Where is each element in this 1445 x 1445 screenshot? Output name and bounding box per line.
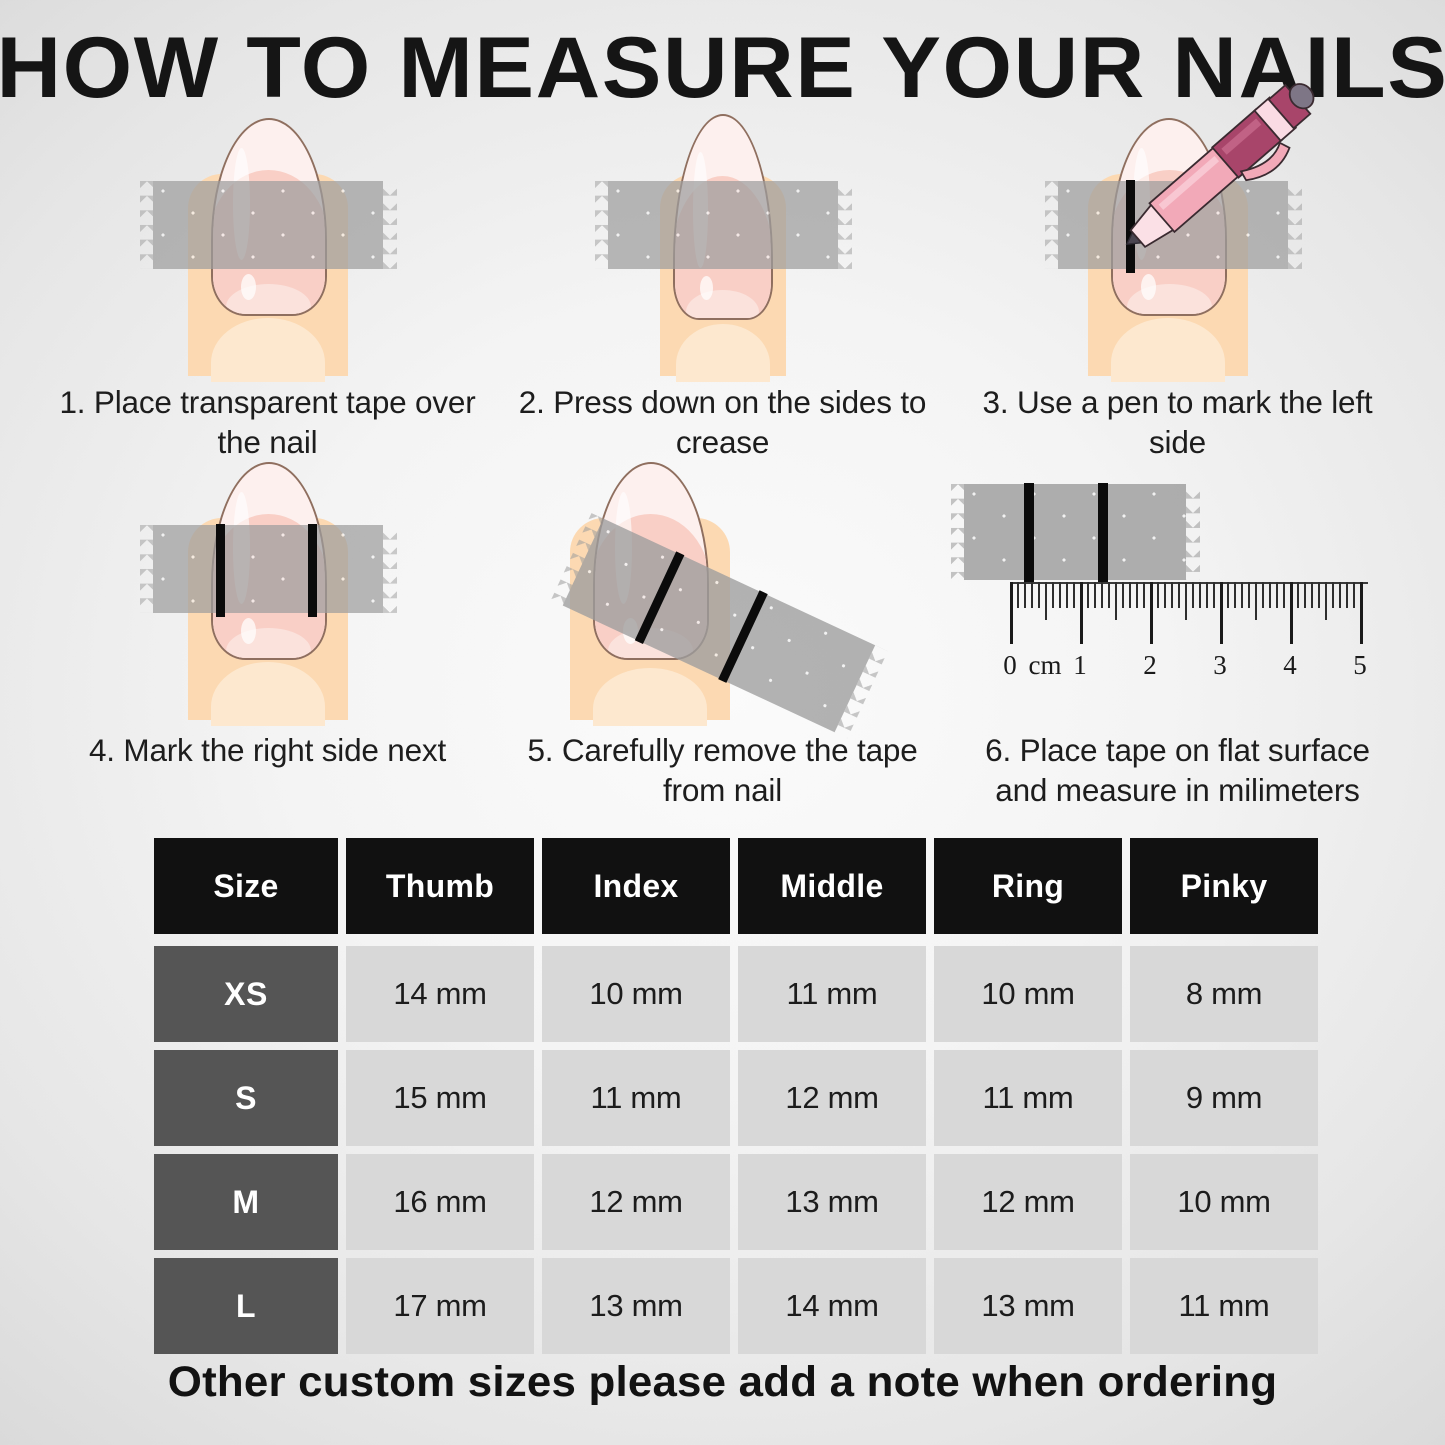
ruler-unit-label: cm bbox=[1029, 650, 1062, 681]
table-row: XS14 mm10 mm11 mm10 mm8 mm bbox=[154, 946, 1324, 1042]
pen-mark-right bbox=[1098, 483, 1108, 583]
ruler-label-1: 1 bbox=[1073, 650, 1087, 681]
ruler-tick-minor bbox=[1332, 582, 1334, 608]
ruler-tick-major bbox=[1150, 582, 1153, 644]
ruler-tick-minor bbox=[1241, 582, 1243, 608]
cell-m-index: 12 mm bbox=[542, 1154, 730, 1250]
steps-grid: 1. Place transparent tape over the nail bbox=[40, 118, 1405, 810]
ruler-tick-minor bbox=[1318, 582, 1320, 608]
pen-icon bbox=[1110, 78, 1360, 278]
ruler-tick-minor bbox=[1143, 582, 1145, 608]
ruler-tick-half bbox=[1045, 582, 1047, 620]
cell-xs-middle: 11 mm bbox=[738, 946, 926, 1042]
size-label-m: M bbox=[154, 1154, 338, 1250]
table-row: S15 mm11 mm12 mm11 mm9 mm bbox=[154, 1050, 1324, 1146]
ruler-label-3: 3 bbox=[1213, 650, 1227, 681]
ruler-tick-major bbox=[1220, 582, 1223, 644]
step-2-illustration bbox=[495, 118, 950, 376]
size-chart-table: SizeThumbIndexMiddleRingPinky XS14 mm10 … bbox=[154, 838, 1324, 1362]
size-label-s: S bbox=[154, 1050, 338, 1146]
table-row: L17 mm13 mm14 mm13 mm11 mm bbox=[154, 1258, 1324, 1354]
ruler-tick-minor bbox=[1031, 582, 1033, 608]
cell-m-ring: 12 mm bbox=[934, 1154, 1122, 1250]
pen-mark-right bbox=[308, 524, 317, 617]
size-label-l: L bbox=[154, 1258, 338, 1354]
cell-m-middle: 13 mm bbox=[738, 1154, 926, 1250]
table-header-index: Index bbox=[542, 838, 730, 934]
cell-s-ring: 11 mm bbox=[934, 1050, 1122, 1146]
ruler-tick-minor bbox=[1283, 582, 1285, 608]
transparent-tape bbox=[153, 181, 383, 269]
cell-s-thumb: 15 mm bbox=[346, 1050, 534, 1146]
cell-xs-thumb: 14 mm bbox=[346, 946, 534, 1042]
ruler-tick-minor bbox=[1017, 582, 1019, 608]
cell-l-thumb: 17 mm bbox=[346, 1258, 534, 1354]
ruler-tick-minor bbox=[1094, 582, 1096, 608]
ruler-tick-minor bbox=[1311, 582, 1313, 608]
step-2-caption: 2. Press down on the sides to crease bbox=[495, 382, 950, 462]
steps-row-top: 1. Place transparent tape over the nail bbox=[40, 118, 1405, 462]
table-row: M16 mm12 mm13 mm12 mm10 mm bbox=[154, 1154, 1324, 1250]
step-1-caption: 1. Place transparent tape over the nail bbox=[40, 382, 495, 462]
ruler-tick-minor bbox=[1227, 582, 1229, 608]
ruler-tick-minor bbox=[1129, 582, 1131, 608]
ruler-tick-minor bbox=[1304, 582, 1306, 608]
ruler-tick-major bbox=[1010, 582, 1013, 644]
table-body: XS14 mm10 mm11 mm10 mm8 mmS15 mm11 mm12 … bbox=[154, 946, 1324, 1354]
ruler-graphic: 012345cm bbox=[1010, 582, 1390, 702]
transparent-tape bbox=[608, 181, 838, 269]
ruler-tick-half bbox=[1255, 582, 1257, 620]
step-4-illustration bbox=[40, 462, 495, 724]
ruler-tick-minor bbox=[1073, 582, 1075, 608]
cell-s-middle: 12 mm bbox=[738, 1050, 926, 1146]
cell-l-ring: 13 mm bbox=[934, 1258, 1122, 1354]
table-header-middle: Middle bbox=[738, 838, 926, 934]
table-header-size: Size bbox=[154, 838, 338, 934]
step-5: 5. Carefully remove the tape from nail bbox=[495, 462, 950, 810]
steps-row-bottom: 4. Mark the right side next bbox=[40, 462, 1405, 810]
ruler-tick-minor bbox=[1206, 582, 1208, 608]
cell-s-pinky: 9 mm bbox=[1130, 1050, 1318, 1146]
table-header-pinky: Pinky bbox=[1130, 838, 1318, 934]
ruler-tick-minor bbox=[1164, 582, 1166, 608]
ruler-tick-half bbox=[1325, 582, 1327, 620]
ruler-tick-minor bbox=[1101, 582, 1103, 608]
ruler-baseline bbox=[1010, 582, 1368, 584]
ruler-tick-minor bbox=[1269, 582, 1271, 608]
ruler-tick-major bbox=[1290, 582, 1293, 644]
ruler-tick-minor bbox=[1346, 582, 1348, 608]
ruler-label-0: 0 bbox=[1003, 650, 1017, 681]
transparent-tape-flat bbox=[964, 484, 1186, 580]
ruler-tick-minor bbox=[1136, 582, 1138, 608]
table-header-row: SizeThumbIndexMiddleRingPinky bbox=[154, 838, 1324, 934]
step-1: 1. Place transparent tape over the nail bbox=[40, 118, 495, 462]
ruler-tick-minor bbox=[1024, 582, 1026, 608]
ruler-tick-minor bbox=[1276, 582, 1278, 608]
step-6: 012345cm 6. Place tape on flat surface a… bbox=[950, 462, 1405, 810]
table-header-ring: Ring bbox=[934, 838, 1122, 934]
nail-highlight-small bbox=[241, 618, 256, 644]
ruler-label-4: 4 bbox=[1283, 650, 1297, 681]
ruler-tick-major bbox=[1360, 582, 1363, 644]
cell-m-pinky: 10 mm bbox=[1130, 1154, 1318, 1250]
ruler-tick-minor bbox=[1199, 582, 1201, 608]
ruler-tick-half bbox=[1185, 582, 1187, 620]
ruler-tick-minor bbox=[1122, 582, 1124, 608]
nail-highlight-small bbox=[700, 276, 713, 300]
size-label-xs: XS bbox=[154, 946, 338, 1042]
footer-note: Other custom sizes please add a note whe… bbox=[0, 1358, 1445, 1407]
ruler-tick-minor bbox=[1171, 582, 1173, 608]
pen-mark-left bbox=[216, 524, 225, 617]
ruler-tick-minor bbox=[1248, 582, 1250, 608]
ruler-tick-minor bbox=[1157, 582, 1159, 608]
step-3-illustration bbox=[950, 118, 1405, 376]
ruler-tick-minor bbox=[1353, 582, 1355, 608]
step-3-caption: 3. Use a pen to mark the left side bbox=[950, 382, 1405, 462]
ruler-tick-minor bbox=[1108, 582, 1110, 608]
step-2: 2. Press down on the sides to crease bbox=[495, 118, 950, 462]
step-1-illustration bbox=[40, 118, 495, 376]
ruler-tick-minor bbox=[1234, 582, 1236, 608]
ruler-label-2: 2 bbox=[1143, 650, 1157, 681]
infographic-page: HOW TO MEASURE YOUR NAILS bbox=[0, 0, 1445, 1445]
step-4: 4. Mark the right side next bbox=[40, 462, 495, 810]
ruler-tick-minor bbox=[1052, 582, 1054, 608]
cell-l-index: 13 mm bbox=[542, 1258, 730, 1354]
ruler-tick-minor bbox=[1038, 582, 1040, 608]
step-6-caption: 6. Place tape on flat surface and measur… bbox=[950, 730, 1405, 810]
transparent-tape bbox=[153, 525, 383, 613]
pen-mark-left bbox=[1024, 483, 1034, 583]
cell-l-pinky: 11 mm bbox=[1130, 1258, 1318, 1354]
ruler-tick-half bbox=[1115, 582, 1117, 620]
ruler-tick-minor bbox=[1339, 582, 1341, 608]
cell-xs-ring: 10 mm bbox=[934, 946, 1122, 1042]
ruler-tick-minor bbox=[1059, 582, 1061, 608]
table-header-thumb: Thumb bbox=[346, 838, 534, 934]
ruler-tick-minor bbox=[1192, 582, 1194, 608]
ruler-tick-minor bbox=[1262, 582, 1264, 608]
cell-l-middle: 14 mm bbox=[738, 1258, 926, 1354]
cell-s-index: 11 mm bbox=[542, 1050, 730, 1146]
step-3: 3. Use a pen to mark the left side bbox=[950, 118, 1405, 462]
nail-highlight-small bbox=[241, 274, 256, 300]
ruler-tick-minor bbox=[1297, 582, 1299, 608]
cell-xs-index: 10 mm bbox=[542, 946, 730, 1042]
step-5-caption: 5. Carefully remove the tape from nail bbox=[495, 730, 950, 810]
ruler-label-5: 5 bbox=[1353, 650, 1367, 681]
cell-xs-pinky: 8 mm bbox=[1130, 946, 1318, 1042]
ruler-tick-minor bbox=[1213, 582, 1215, 608]
ruler-tick-minor bbox=[1087, 582, 1089, 608]
cell-m-thumb: 16 mm bbox=[346, 1154, 534, 1250]
ruler-tick-major bbox=[1080, 582, 1083, 644]
ruler-tick-minor bbox=[1066, 582, 1068, 608]
step-5-illustration bbox=[495, 462, 950, 724]
ruler-tick-minor bbox=[1178, 582, 1180, 608]
step-6-illustration: 012345cm bbox=[950, 462, 1405, 724]
step-4-caption: 4. Mark the right side next bbox=[40, 730, 495, 770]
